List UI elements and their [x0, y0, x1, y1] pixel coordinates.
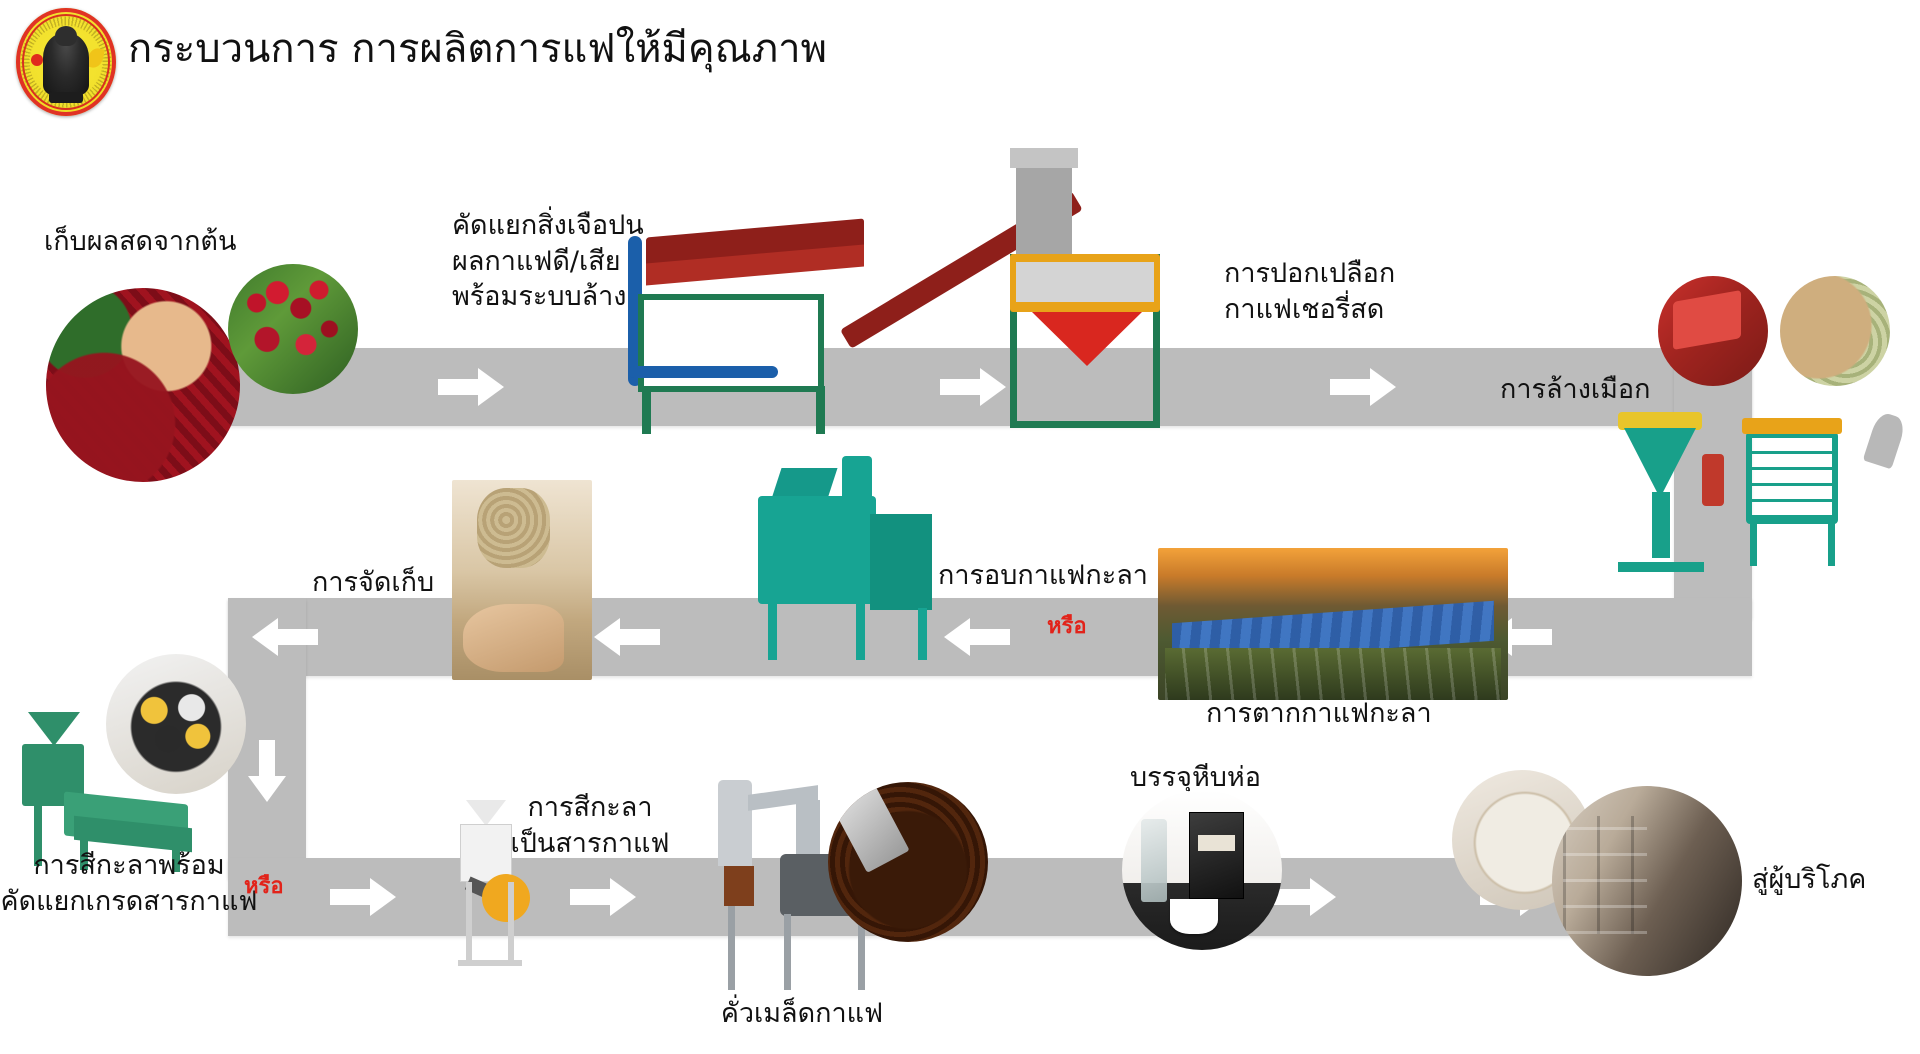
photo-parchment-beans	[1780, 276, 1890, 386]
dryer-drum	[758, 496, 876, 604]
alt-marker-hulling: หรือ	[244, 868, 284, 903]
label-harvest: เก็บผลสดจากต้น	[44, 224, 344, 260]
label-demucilage: การล้างเมือก	[1500, 372, 1700, 408]
label-consumer: สู่ผู้บริโภค	[1752, 862, 1920, 898]
label-pulping: การปอกเปลือก กาแฟเชอรี่สด	[1224, 256, 1484, 327]
machine-coffee-dryer	[758, 470, 948, 660]
roaster-control-panel	[724, 866, 754, 906]
photo-roasted-beans	[828, 782, 988, 942]
dryer-leg	[856, 602, 865, 660]
hulling-base	[458, 960, 522, 966]
dryer-leg	[918, 608, 927, 660]
machine-hulling-unit	[452, 800, 572, 980]
photo-packaging	[1122, 790, 1282, 950]
package-cup	[1170, 899, 1218, 934]
label-roasting: คั่วเมล็ดกาแฟ	[672, 996, 932, 1032]
roaster-leg	[784, 914, 791, 990]
hulling-leg	[508, 882, 514, 964]
alt-marker-drying: หรือ	[1047, 608, 1087, 643]
label-hull-grade: การสีกะลาพร้อม คัดแยกเกรดสารกาแฟ	[0, 848, 258, 919]
machine-mucilage-washer	[1742, 410, 1882, 570]
washer-top-cap	[1742, 418, 1842, 434]
washer-scoop	[1863, 411, 1908, 470]
sorter-leg	[642, 386, 651, 434]
hulling-flywheel	[482, 874, 530, 922]
photo-sun-drying-beds	[1158, 548, 1508, 700]
grader-hopper	[1032, 312, 1142, 366]
hulling-leg	[466, 882, 472, 964]
label-sorting: คัดแยกสิ่งเจือปน ผลกาแฟดี/เสีย พร้อมระบบ…	[452, 208, 682, 315]
demucilager-cone	[1624, 428, 1696, 498]
demucilager-base	[1618, 562, 1704, 572]
auger-tower-cap	[1010, 148, 1078, 168]
sorter-leg	[816, 386, 825, 434]
ganesha-seal-logo	[16, 8, 116, 116]
dryer-leg	[768, 602, 777, 660]
machine-demucilager	[1612, 412, 1722, 572]
washer-cage	[1746, 432, 1838, 524]
roaster-cyclone	[718, 780, 752, 866]
seal-ganesha-figure	[43, 33, 89, 95]
photo-harvest-basket	[46, 288, 240, 482]
seal-sun-icon	[31, 54, 43, 66]
label-packaging: บรรจุหีบห่อ	[1130, 760, 1350, 796]
roaster-column	[796, 800, 820, 860]
demucilager-column	[1652, 492, 1670, 558]
sorter-wash-hose	[628, 366, 778, 378]
package-bag	[1189, 812, 1243, 898]
grader-screen	[1016, 262, 1154, 302]
photo-cherry-branch	[228, 264, 358, 394]
photo-parchment-storage	[452, 480, 592, 680]
label-sun-drying: การตากกาแฟกะลา	[1206, 696, 1486, 732]
package-bottle	[1141, 819, 1167, 902]
washer-leg	[1828, 522, 1835, 566]
page-title: กระบวนการ การผลิตการแฟให้มีคุณภาพ	[128, 24, 827, 74]
process-diagram-canvas: กระบวนการ การผลิตการแฟให้มีคุณภาพ	[0, 0, 1920, 1054]
machine-grader	[1010, 254, 1170, 434]
roaster-leg	[728, 906, 735, 990]
demucilager-motor	[1702, 454, 1724, 506]
photo-consumer-cafe	[1552, 786, 1742, 976]
huller-hopper	[28, 712, 80, 746]
washer-leg	[1750, 522, 1757, 566]
dryer-control-box	[870, 514, 932, 610]
photo-pulper	[1658, 276, 1768, 386]
hulling-hopper	[466, 800, 506, 826]
photo-cupping-samples	[106, 654, 246, 794]
